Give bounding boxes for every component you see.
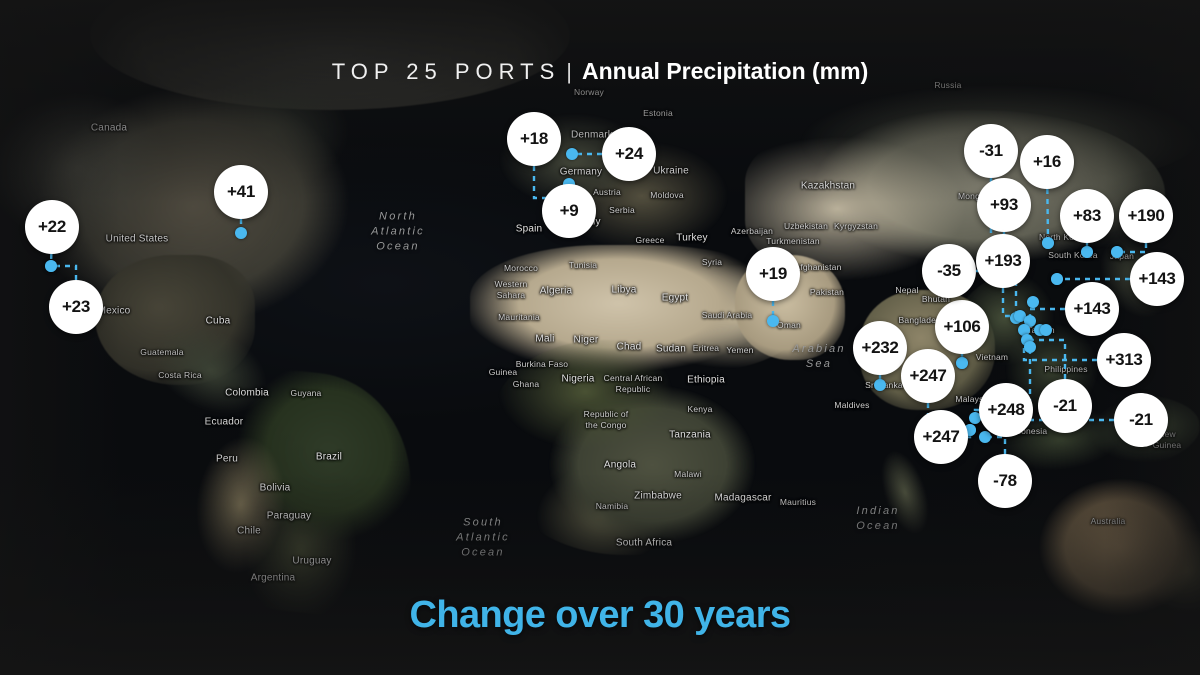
precipitation-value-bubble[interactable]: +83 xyxy=(1060,189,1114,243)
precipitation-value-bubble[interactable]: +313 xyxy=(1097,333,1151,387)
port-dot[interactable] xyxy=(45,260,57,272)
precipitation-value-bubble[interactable]: +143 xyxy=(1130,252,1184,306)
landmass-africa xyxy=(490,340,770,555)
port-dot[interactable] xyxy=(1111,246,1123,258)
precipitation-value-bubble[interactable]: +232 xyxy=(853,321,907,375)
precipitation-value-bubble[interactable]: +19 xyxy=(746,247,800,301)
precipitation-value-bubble[interactable]: +190 xyxy=(1119,189,1173,243)
port-dot[interactable] xyxy=(1027,296,1039,308)
precipitation-value-bubble[interactable]: +24 xyxy=(602,127,656,181)
precipitation-value-bubble[interactable]: +18 xyxy=(507,112,561,166)
port-dot[interactable] xyxy=(1051,273,1063,285)
port-dot[interactable] xyxy=(979,431,991,443)
port-dot[interactable] xyxy=(956,357,968,369)
port-dot[interactable] xyxy=(1024,341,1036,353)
precipitation-value-bubble[interactable]: +41 xyxy=(214,165,268,219)
precipitation-value-bubble[interactable]: +93 xyxy=(977,178,1031,232)
world-map[interactable]: CanadaUnited StatesMexicoCubaGuatemalaCo… xyxy=(0,0,1200,675)
precipitation-value-bubble[interactable]: +193 xyxy=(976,234,1030,288)
precipitation-map-infographic: CanadaUnited StatesMexicoCubaGuatemalaCo… xyxy=(0,0,1200,675)
precipitation-value-bubble[interactable]: +22 xyxy=(25,200,79,254)
precipitation-value-bubble[interactable]: +143 xyxy=(1065,282,1119,336)
landmass-europe xyxy=(470,88,730,268)
precipitation-value-bubble[interactable]: +248 xyxy=(979,383,1033,437)
precipitation-value-bubble[interactable]: -21 xyxy=(1114,393,1168,447)
precipitation-value-bubble[interactable]: -31 xyxy=(964,124,1018,178)
port-dot[interactable] xyxy=(1040,324,1052,336)
port-dot[interactable] xyxy=(1081,246,1093,258)
precipitation-value-bubble[interactable]: -78 xyxy=(978,454,1032,508)
precipitation-value-bubble[interactable]: +23 xyxy=(49,280,103,334)
port-dot[interactable] xyxy=(874,379,886,391)
port-dot[interactable] xyxy=(566,148,578,160)
precipitation-value-bubble[interactable]: -35 xyxy=(922,244,976,298)
precipitation-value-bubble[interactable]: +247 xyxy=(901,349,955,403)
precipitation-value-bubble[interactable]: -21 xyxy=(1038,379,1092,433)
port-dot[interactable] xyxy=(767,315,779,327)
precipitation-value-bubble[interactable]: +106 xyxy=(935,300,989,354)
precipitation-value-bubble[interactable]: +247 xyxy=(914,410,968,464)
port-dot[interactable] xyxy=(235,227,247,239)
landmass-australia xyxy=(1035,475,1200,635)
port-dot[interactable] xyxy=(1042,237,1054,249)
precipitation-value-bubble[interactable]: +16 xyxy=(1020,135,1074,189)
precipitation-value-bubble[interactable]: +9 xyxy=(542,184,596,238)
